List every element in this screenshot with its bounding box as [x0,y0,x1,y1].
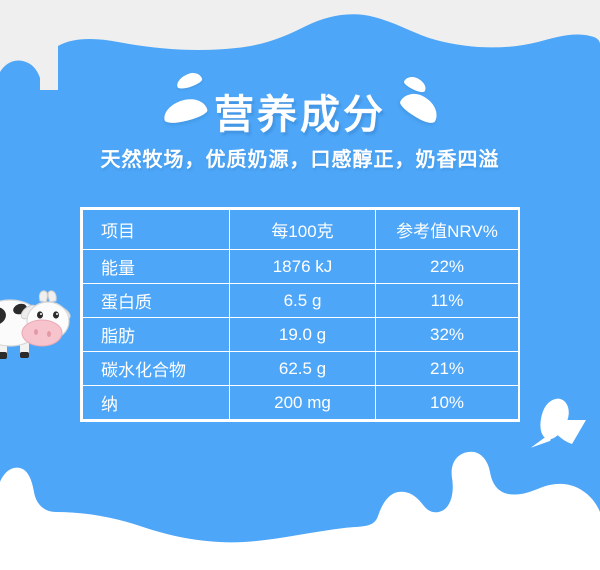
table-row: 纳 200 mg 10% [83,386,519,420]
milk-wave-top [0,0,600,90]
milk-wave-bottom [0,420,600,570]
page-title: 营养成分 [0,82,600,140]
cell-item: 蛋白质 [83,284,230,318]
column-header-per100g: 每100克 [230,210,376,250]
cell-nrv: 10% [376,386,519,420]
column-header-nrv: 参考值NRV% [376,210,519,250]
cell-nrv: 22% [376,250,519,284]
cell-per100g: 200 mg [230,386,376,420]
cell-per100g: 19.0 g [230,318,376,352]
nutrition-banner: 营养成分 天然牧场，优质奶源，口感醇正，奶香四溢 项目 每100克 参考值NRV… [0,0,600,570]
table-header-row: 项目 每100克 参考值NRV% [83,210,519,250]
column-header-item: 项目 [83,210,230,250]
cell-per100g: 1876 kJ [230,250,376,284]
table-row: 蛋白质 6.5 g 11% [83,284,519,318]
milk-droplet-corner [535,395,574,443]
table-row: 碳水化合物 62.5 g 21% [83,352,519,386]
table-row: 脂肪 19.0 g 32% [83,318,519,352]
cell-nrv: 32% [376,318,519,352]
table-row: 能量 1876 kJ 22% [83,250,519,284]
cow-icon [0,276,72,366]
cell-item: 纳 [83,386,230,420]
cell-item: 脂肪 [83,318,230,352]
cell-per100g: 6.5 g [230,284,376,318]
cell-nrv: 11% [376,284,519,318]
cell-item: 碳水化合物 [83,352,230,386]
cell-item: 能量 [83,250,230,284]
cell-nrv: 21% [376,352,519,386]
page-subtitle: 天然牧场，优质奶源，口感醇正，奶香四溢 [0,143,600,172]
cell-per100g: 62.5 g [230,352,376,386]
nutrition-table: 项目 每100克 参考值NRV% 能量 1876 kJ 22% 蛋白质 6.5 … [80,207,520,422]
